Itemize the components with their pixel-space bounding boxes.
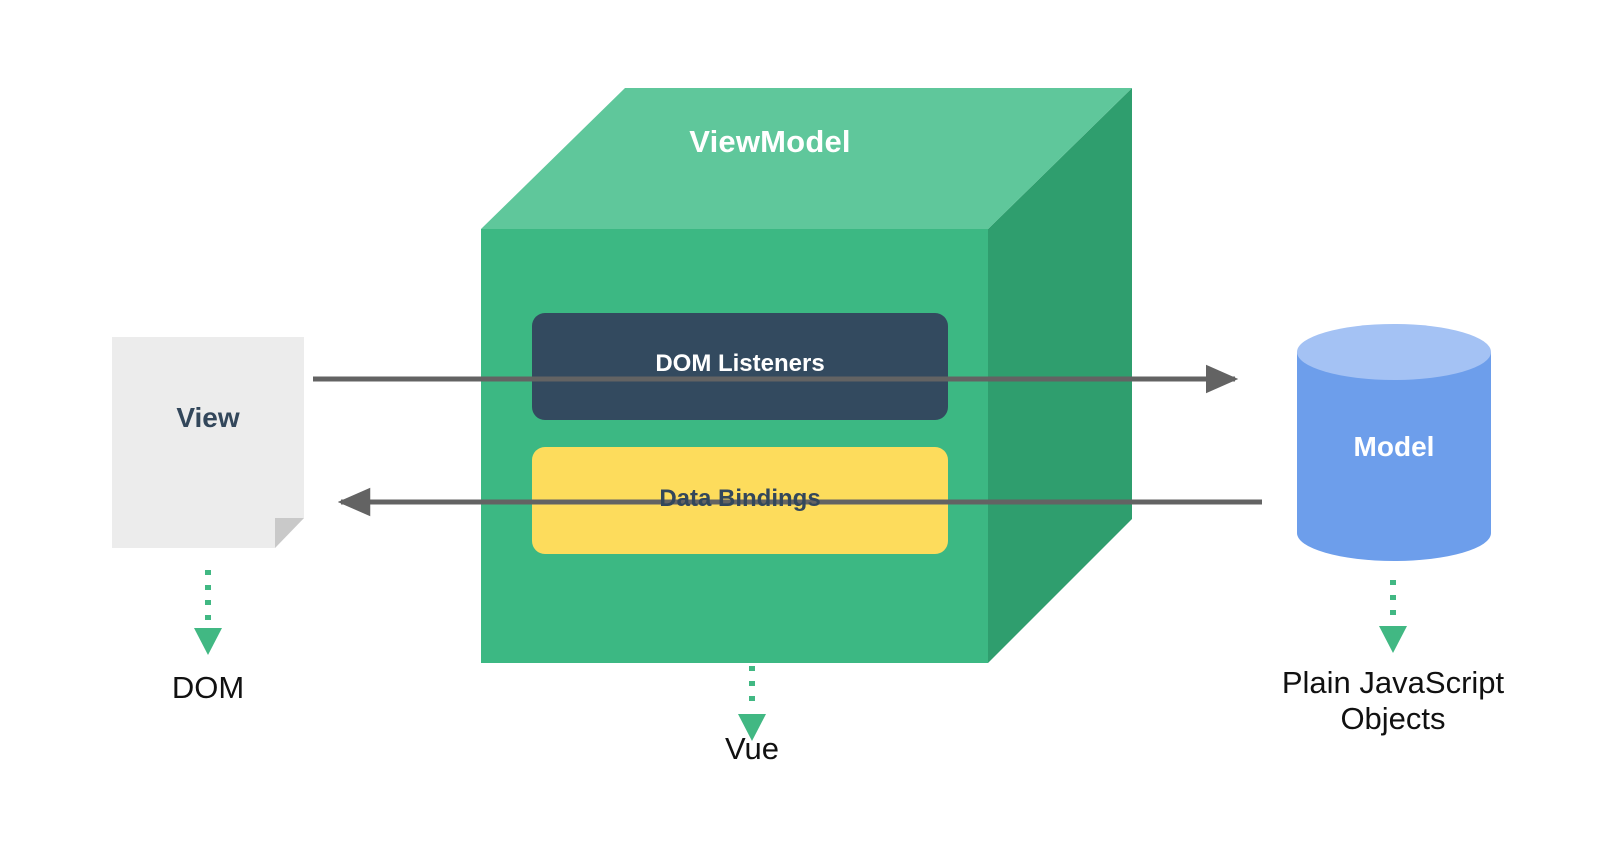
view-page-shape xyxy=(112,337,304,548)
model-node xyxy=(1297,324,1491,561)
cube-front-face xyxy=(481,229,988,663)
mapping-arrow-model-objects xyxy=(1379,580,1407,653)
mapping-arrow-viewmodel-vue xyxy=(738,666,766,741)
view-page-fold xyxy=(275,518,304,548)
dotted-arrowhead-viewmodel xyxy=(738,714,766,741)
diagram-graphics xyxy=(0,0,1600,850)
dom-listeners-box[interactable] xyxy=(532,313,948,420)
dotted-arrowhead-view xyxy=(194,628,222,655)
dotted-arrowhead-model xyxy=(1379,626,1407,653)
cylinder-top-ellipse xyxy=(1297,324,1491,380)
mapping-arrow-view-dom xyxy=(194,570,222,655)
view-node xyxy=(112,337,304,548)
dom-listeners-rect[interactable] xyxy=(532,313,948,420)
cylinder-body xyxy=(1297,352,1491,561)
diagram-canvas: ViewModel View Model DOM Listeners Data … xyxy=(0,0,1600,850)
